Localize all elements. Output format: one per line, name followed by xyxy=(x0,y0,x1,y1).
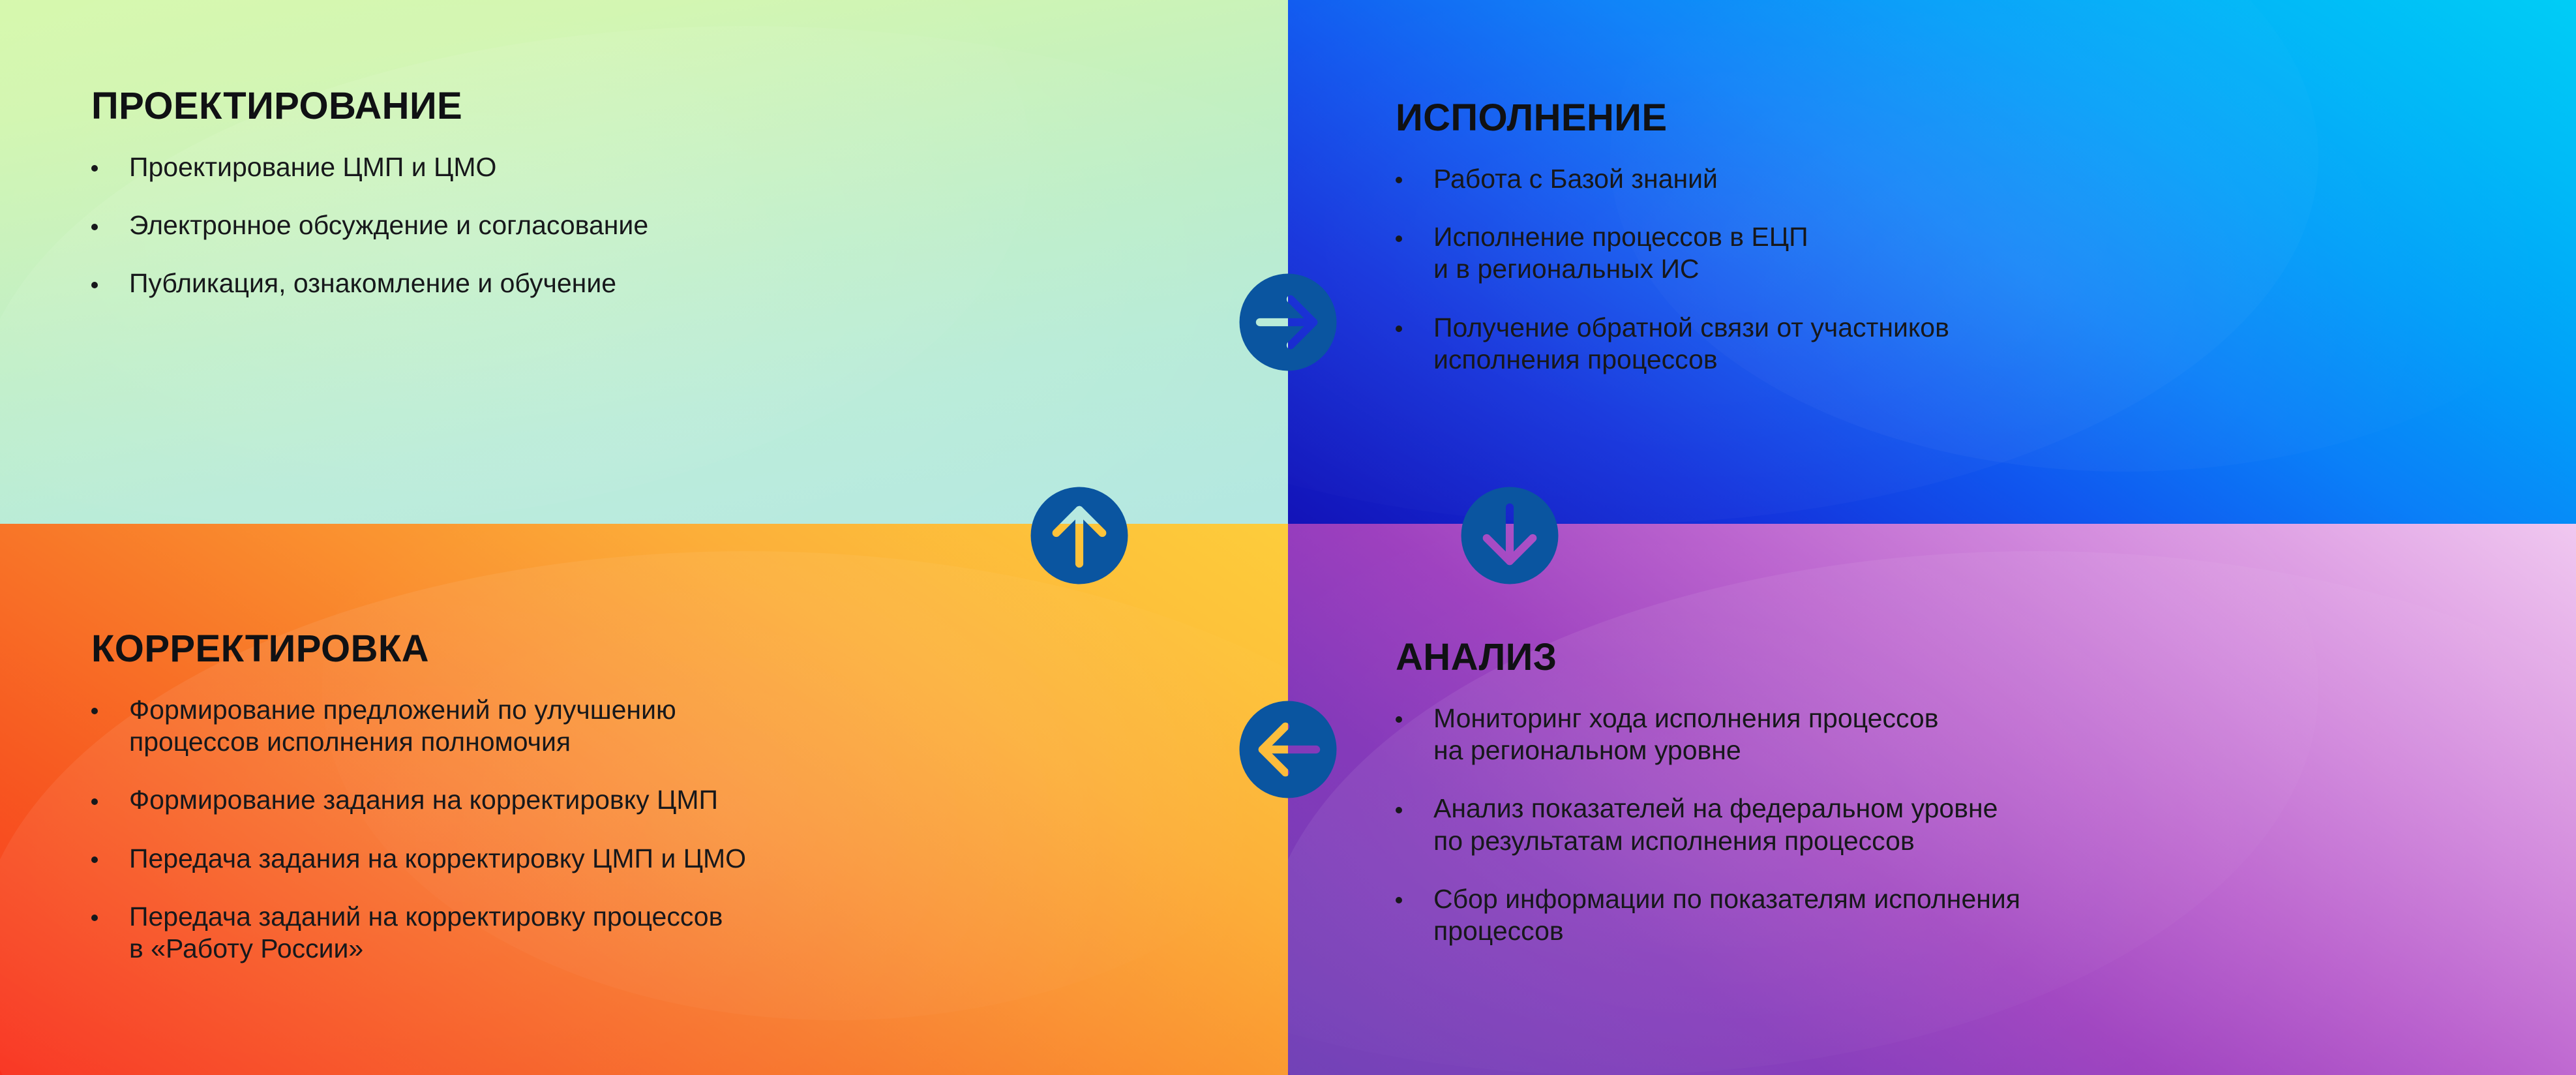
bullet-text: Публикация, ознакомление и обучение xyxy=(129,267,1070,299)
bullet-list-design: Проектирование ЦМП и ЦМО Электронное обс… xyxy=(91,151,1070,300)
bullet-text: Формирование задания на корректировку ЦМ… xyxy=(129,784,1135,816)
bullet-text: Получение обратной связи от участников и… xyxy=(1433,312,2439,376)
bullet-dot-icon xyxy=(91,282,98,288)
bullet-dot-icon xyxy=(1396,235,1402,242)
list-item: Передача задания на корректировку ЦМП и … xyxy=(91,843,1135,875)
list-item: Получение обратной связи от участников и… xyxy=(1396,312,2439,376)
bullet-dot-icon xyxy=(91,165,98,172)
text-block-analyze: АНАЛИЗ Мониторинг хода исполнения процес… xyxy=(1396,639,2439,947)
bullet-text: Передача задания на корректировку ЦМП и … xyxy=(129,843,1135,875)
bullet-dot-icon xyxy=(1396,897,1402,903)
bullet-list-correct: Формирование предложений по улучшению пр… xyxy=(91,694,1135,965)
bullet-text: Передача заданий на корректировку процес… xyxy=(129,901,1135,965)
list-item: Формирование задания на корректировку ЦМ… xyxy=(91,784,1135,816)
bullet-dot-icon xyxy=(91,856,98,863)
bullet-dot-icon xyxy=(1396,807,1402,813)
process-cycle-slide: ПРОЕКТИРОВАНИЕ Проектирование ЦМП и ЦМО … xyxy=(0,0,2576,1075)
bullet-text: Анализ показателей на федеральном уровне… xyxy=(1433,793,2439,856)
text-block-execute: ИСПОЛНЕНИЕ Работа с Базой знаний Исполне… xyxy=(1396,99,2439,376)
list-item: Электронное обсуждение и согласование xyxy=(91,209,1070,241)
list-item: Мониторинг хода исполнения процессов на … xyxy=(1396,703,2439,766)
quadrant-title-analyze: АНАЛИЗ xyxy=(1396,639,2439,676)
text-block-correct: КОРРЕКТИРОВКА Формирование предложений п… xyxy=(91,630,1135,965)
quadrant-title-execute: ИСПОЛНЕНИЕ xyxy=(1396,99,2439,137)
list-item: Проектирование ЦМП и ЦМО xyxy=(91,151,1070,183)
bullet-dot-icon xyxy=(91,798,98,805)
bullet-dot-icon xyxy=(91,224,98,230)
bullet-dot-icon xyxy=(1396,326,1402,332)
list-item: Формирование предложений по улучшению пр… xyxy=(91,694,1135,758)
bullet-dot-icon xyxy=(91,708,98,714)
bullet-list-analyze: Мониторинг хода исполнения процессов на … xyxy=(1396,703,2439,947)
list-item: Передача заданий на корректировку процес… xyxy=(91,901,1135,965)
list-item: Анализ показателей на федеральном уровне… xyxy=(1396,793,2439,856)
quadrant-title-correct: КОРРЕКТИРОВКА xyxy=(91,630,1135,668)
text-block-design: ПРОЕКТИРОВАНИЕ Проектирование ЦМП и ЦМО … xyxy=(91,87,1070,300)
bullet-dot-icon xyxy=(1396,177,1402,183)
list-item: Исполнение процессов в ЕЦП и в региональ… xyxy=(1396,221,2439,285)
bullet-text: Сбор информации по показателям исполнени… xyxy=(1433,883,2439,947)
bullet-dot-icon xyxy=(91,915,98,921)
quadrant-title-design: ПРОЕКТИРОВАНИЕ xyxy=(91,87,1070,125)
list-item: Сбор информации по показателям исполнени… xyxy=(1396,883,2439,947)
bullet-dot-icon xyxy=(1396,716,1402,723)
list-item: Публикация, ознакомление и обучение xyxy=(91,267,1070,299)
bullet-text: Формирование предложений по улучшению пр… xyxy=(129,694,1135,758)
bullet-text: Электронное обсуждение и согласование xyxy=(129,209,1070,241)
bullet-list-execute: Работа с Базой знаний Исполнение процесс… xyxy=(1396,163,2439,376)
bullet-text: Мониторинг хода исполнения процессов на … xyxy=(1433,703,2439,766)
bullet-text: Проектирование ЦМП и ЦМО xyxy=(129,151,1070,183)
list-item: Работа с Базой знаний xyxy=(1396,163,2439,195)
bullet-text: Исполнение процессов в ЕЦП и в региональ… xyxy=(1433,221,2439,285)
bullet-text: Работа с Базой знаний xyxy=(1433,163,2439,195)
